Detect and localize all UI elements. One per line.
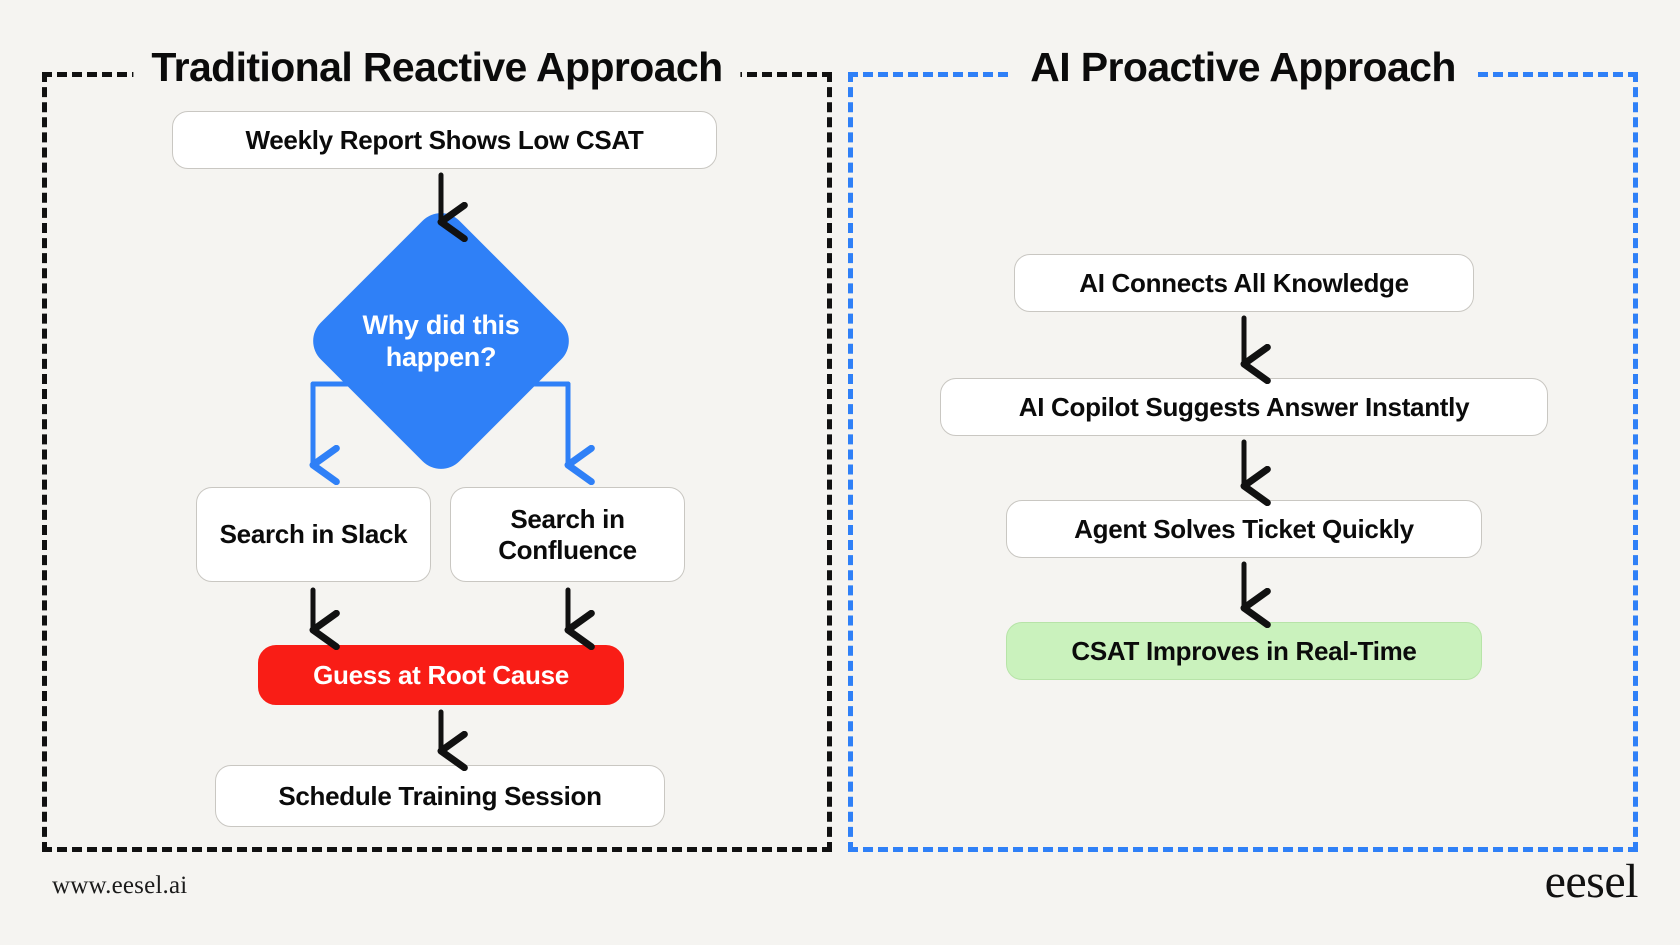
node-search-in-slack[interactable]: Search in Slack	[196, 487, 431, 582]
node-ai-copilot-suggests-answer-instantly[interactable]: AI Copilot Suggests Answer Instantly	[940, 378, 1548, 436]
panel-right-title: AI Proactive Approach	[1012, 47, 1474, 88]
node-ai-connects-all-knowledge[interactable]: AI Connects All Knowledge	[1014, 254, 1474, 312]
panel-left-title: Traditional Reactive Approach	[133, 47, 740, 88]
node-search-in-confluence[interactable]: Search in Confluence	[450, 487, 685, 582]
panel-ai-proactive: AI Proactive Approach	[848, 72, 1638, 852]
node-guess-at-root-cause[interactable]: Guess at Root Cause	[258, 645, 624, 705]
node-why-did-this-happen-label: Why did this happen?	[323, 285, 559, 397]
node-csat-improves-in-real-time[interactable]: CSAT Improves in Real-Time	[1006, 622, 1482, 680]
diagram-canvas: Traditional Reactive Approach Weekly Rep…	[0, 0, 1680, 945]
node-weekly-report-shows-low-csat[interactable]: Weekly Report Shows Low CSAT	[172, 111, 717, 169]
footer-brand-logo: eesel	[1545, 858, 1638, 906]
node-agent-solves-ticket-quickly[interactable]: Agent Solves Ticket Quickly	[1006, 500, 1482, 558]
node-schedule-training-session[interactable]: Schedule Training Session	[215, 765, 665, 827]
footer-website-url: www.eesel.ai	[52, 872, 187, 900]
